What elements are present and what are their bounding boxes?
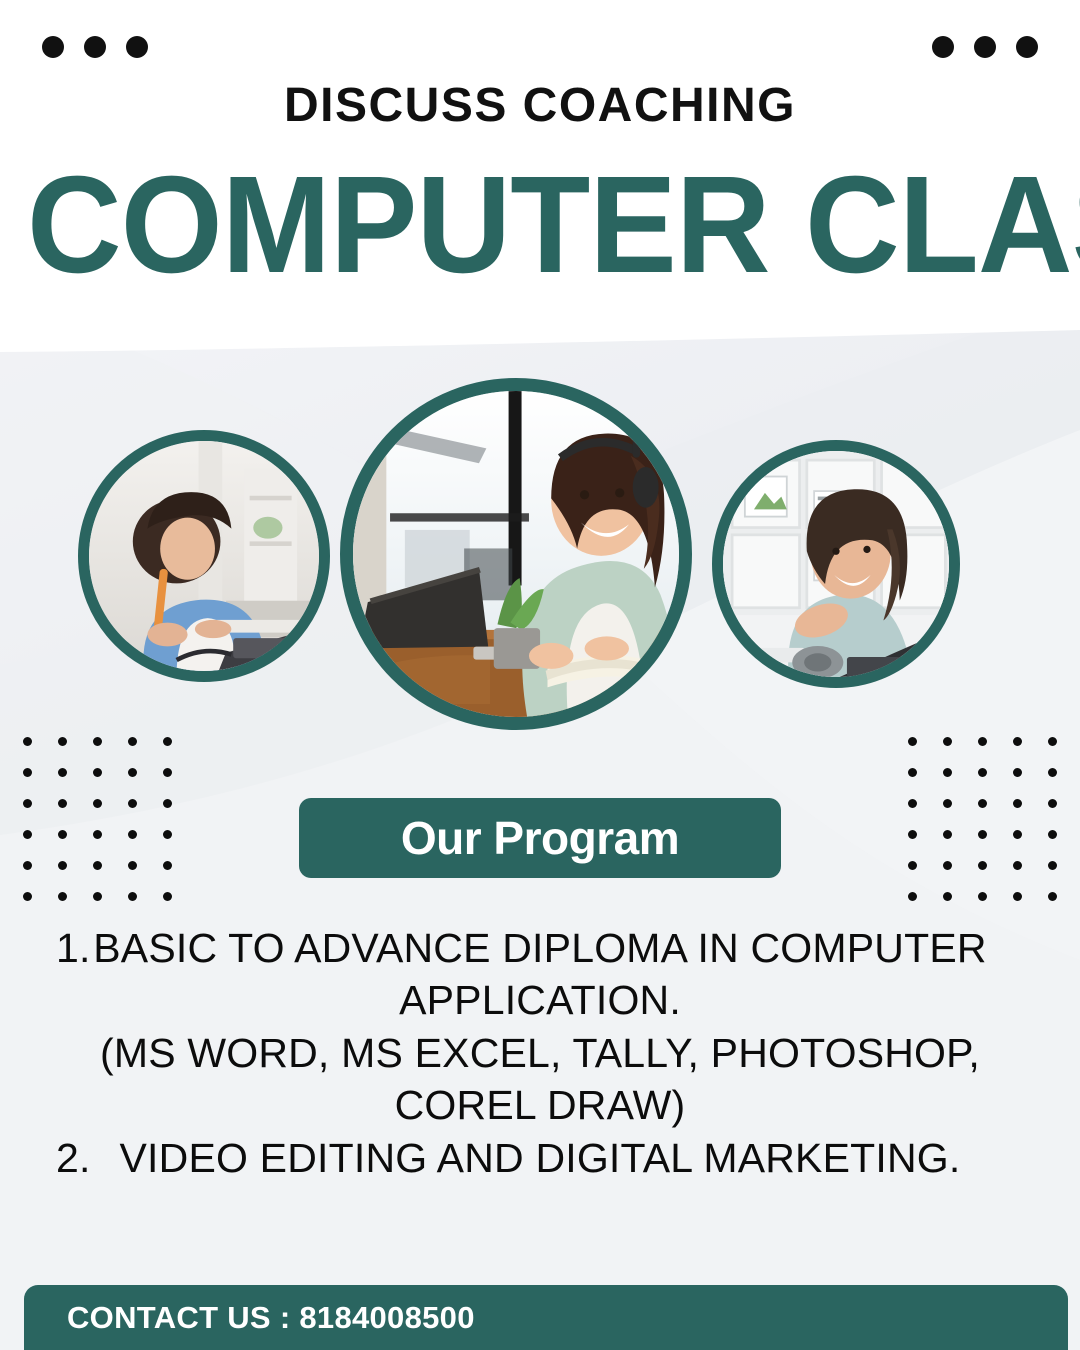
dot-icon — [128, 861, 137, 870]
dot-icon — [93, 737, 102, 746]
dot-icon — [943, 768, 952, 777]
dot-icon — [1048, 799, 1057, 808]
dot-icon — [908, 737, 917, 746]
dot-icon — [23, 892, 32, 901]
dot-icon — [93, 830, 102, 839]
dot-icon — [908, 861, 917, 870]
dot-icon — [58, 799, 67, 808]
dot-icon — [932, 36, 954, 58]
dot-icon — [908, 892, 917, 901]
dot-grid-right — [895, 726, 1070, 912]
photo-student-with-headset-and-book — [340, 378, 692, 730]
dot-icon — [1013, 892, 1022, 901]
program-list-item-2: 2. VIDEO EDITING AND DIGITAL MARKETING. — [40, 1132, 1040, 1184]
dot-icon — [1016, 36, 1038, 58]
dot-icon — [58, 737, 67, 746]
dot-icon — [1048, 830, 1057, 839]
our-program-badge: Our Program — [299, 798, 781, 878]
dot-icon — [128, 799, 137, 808]
photo-woman-with-pencil-at-laptop — [78, 430, 330, 682]
dot-icon — [163, 768, 172, 777]
dot-icon — [163, 830, 172, 839]
program-item-number: 1. — [56, 922, 91, 974]
photo-collage — [0, 378, 1080, 728]
dot-icon — [978, 768, 987, 777]
dot-icon — [23, 799, 32, 808]
dot-icon — [163, 799, 172, 808]
dot-icon — [93, 892, 102, 901]
program-item-note: (MS WORD, MS EXCEL, TALLY, PHOTOSHOP, CO… — [40, 1027, 1040, 1132]
contact-bar: CONTACT US : 8184008500 — [24, 1285, 1068, 1350]
dot-icon — [42, 36, 64, 58]
dot-icon — [58, 768, 67, 777]
dot-icon — [943, 737, 952, 746]
dot-icon — [974, 36, 996, 58]
dot-icon — [93, 799, 102, 808]
dot-icon — [58, 830, 67, 839]
dot-icon — [128, 892, 137, 901]
page-title: COMPUTER CLASSES — [27, 160, 1053, 291]
dot-icon — [23, 830, 32, 839]
dot-icon — [58, 861, 67, 870]
dot-icon — [93, 768, 102, 777]
dot-icon — [23, 737, 32, 746]
dot-icon — [943, 799, 952, 808]
dot-icon — [23, 861, 32, 870]
poster-canvas: DISCUSS COACHING COMPUTER CLASSES — [0, 0, 1080, 1350]
dot-icon — [943, 861, 952, 870]
dot-icon — [943, 892, 952, 901]
dot-icon — [1048, 737, 1057, 746]
dot-icon — [1013, 737, 1022, 746]
program-list: 1. BASIC TO ADVANCE DIPLOMA IN COMPUTER … — [40, 922, 1040, 1184]
dot-icon — [126, 36, 148, 58]
dot-icon — [943, 830, 952, 839]
program-item-number: 2. — [56, 1132, 91, 1184]
dot-icon — [1048, 861, 1057, 870]
corner-dots-left — [42, 36, 148, 58]
dot-icon — [908, 768, 917, 777]
dot-icon — [128, 768, 137, 777]
dot-icon — [1013, 768, 1022, 777]
dot-icon — [163, 737, 172, 746]
contact-label: CONTACT US : 8184008500 — [67, 1300, 475, 1336]
program-list-item-1: 1. BASIC TO ADVANCE DIPLOMA IN COMPUTER … — [40, 922, 1040, 1132]
dot-icon — [128, 830, 137, 839]
dot-icon — [978, 737, 987, 746]
dot-icon — [128, 737, 137, 746]
dot-icon — [978, 799, 987, 808]
dot-icon — [1048, 768, 1057, 777]
dot-icon — [1013, 799, 1022, 808]
dot-icon — [978, 861, 987, 870]
dot-icon — [978, 830, 987, 839]
program-item-text: VIDEO EDITING AND DIGITAL MARKETING. — [40, 1132, 1040, 1184]
dot-grid-left — [10, 726, 185, 912]
dot-icon — [84, 36, 106, 58]
our-program-label: Our Program — [401, 811, 679, 865]
dot-icon — [23, 768, 32, 777]
photo-young-man-on-video-call — [712, 440, 960, 688]
dot-icon — [58, 892, 67, 901]
dot-icon — [1013, 861, 1022, 870]
dot-icon — [1048, 892, 1057, 901]
dot-icon — [93, 861, 102, 870]
program-item-text: BASIC TO ADVANCE DIPLOMA IN COMPUTER APP… — [40, 922, 1040, 1027]
dot-icon — [163, 892, 172, 901]
dot-icon — [978, 892, 987, 901]
dot-icon — [908, 799, 917, 808]
dot-icon — [163, 861, 172, 870]
dot-icon — [908, 830, 917, 839]
corner-dots-right — [932, 36, 1038, 58]
dot-icon — [1013, 830, 1022, 839]
kicker-text: DISCUSS COACHING — [0, 78, 1080, 133]
